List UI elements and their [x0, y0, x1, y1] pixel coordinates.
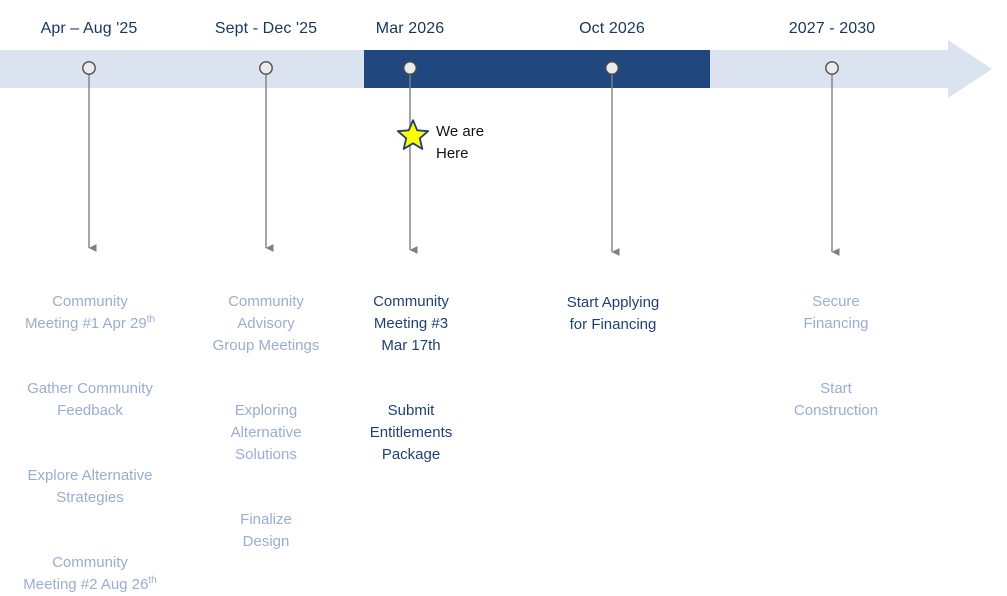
milestone-item: Community Advisory Group Meetings [191, 269, 341, 357]
milestone-column-mar-2026: Community Meeting #3 Mar 17th Submit Ent… [340, 269, 482, 466]
timeline-arrow-bar [0, 0, 1007, 110]
we-are-here-label: We are Here [436, 118, 484, 165]
period-header-sept-dec-25: Sept - Dec '25 [186, 19, 346, 39]
milestone-column-oct-2026: Start Applying for Financing [540, 270, 686, 336]
milestone-item: Start Construction [762, 356, 910, 422]
milestone-item: Explore Alternative Strategies [5, 443, 175, 509]
timeline-diagram: Apr – Aug '25 Sept - Dec '25 Mar 2026 Oc… [0, 0, 1007, 513]
milestone-column-apr-aug-25: Community Meeting #1 Apr 29th Gather Com… [5, 269, 175, 596]
milestone-item: Secure Financing [762, 269, 910, 335]
period-header-apr-aug-25: Apr – Aug '25 [9, 19, 169, 39]
milestone-column-sept-dec-25: Community Advisory Group Meetings Explor… [191, 269, 341, 553]
period-header-2027-2030: 2027 - 2030 [752, 19, 912, 39]
timeline-highlight-segment [364, 50, 710, 88]
milestone-item: Community Meeting #2 Aug 26th [5, 530, 175, 596]
milestone-item: Gather Community Feedback [5, 356, 175, 422]
milestone-item: Start Applying for Financing [540, 270, 686, 336]
milestone-item: Exploring Alternative Solutions [191, 378, 341, 466]
milestone-item: Submit Entitlements Package [340, 378, 482, 466]
milestone-column-2027-2030: Secure Financing Start Construction [762, 269, 910, 422]
period-header-mar-2026: Mar 2026 [330, 19, 490, 39]
we-are-here-annotation: We are Here [396, 118, 484, 165]
milestone-item: Community Meeting #3 Mar 17th [340, 269, 482, 357]
period-header-oct-2026: Oct 2026 [532, 19, 692, 39]
milestone-item: Community Meeting #1 Apr 29th [5, 269, 175, 335]
star-icon [396, 118, 430, 152]
milestone-item: Finalize Design [191, 487, 341, 553]
